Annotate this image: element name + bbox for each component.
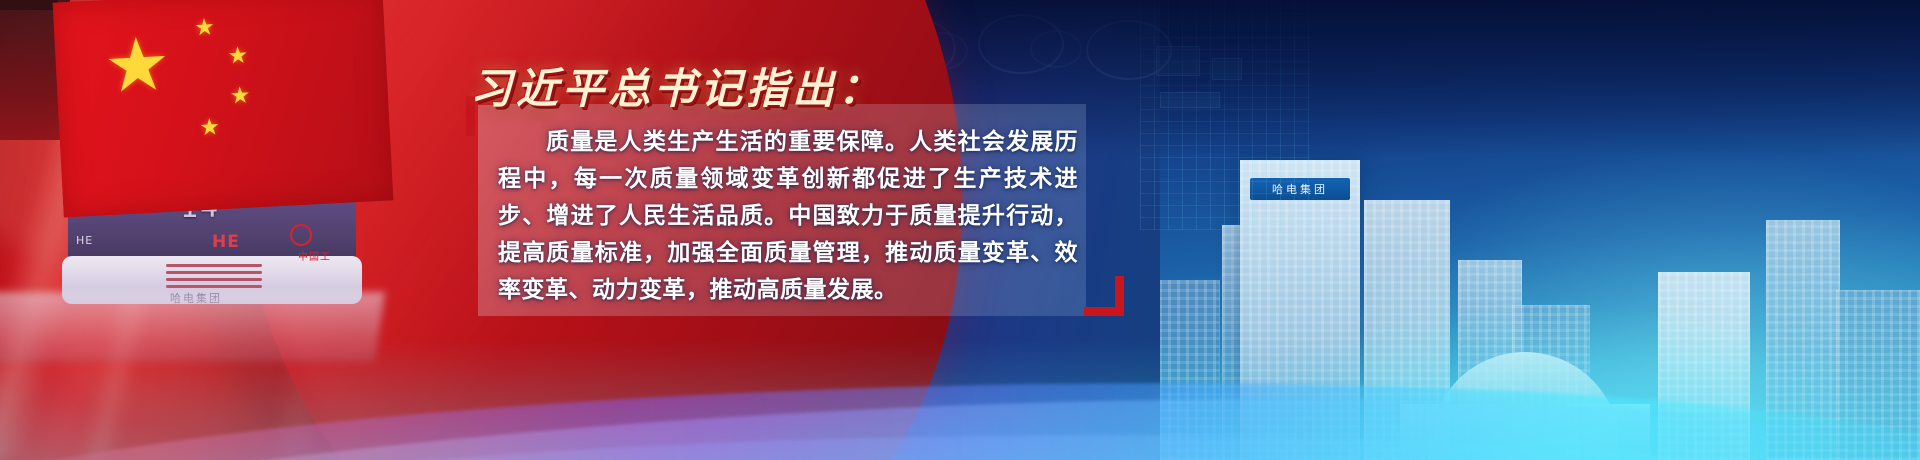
flag-star-small: ★ [227, 45, 249, 69]
machine-hall-beam [0, 0, 58, 10]
bottom-glow [0, 340, 1920, 460]
quote-body-text: 质量是人类生产生活的重要保障。人类社会发展历程中，每一次质量领域变革创新都促进了… [498, 124, 1078, 309]
flag-star-large: ★ [102, 27, 172, 104]
page-title: 习近平总书记指出： [470, 55, 884, 116]
flag-star-small: ★ [194, 16, 216, 40]
hero-banner: 哈电集团 14 [0, 0, 1920, 460]
flag-star-small: ★ [229, 85, 251, 109]
flag-star-small: ★ [199, 116, 221, 140]
chinese-flag: ★ ★ ★ ★ ★ [53, 0, 394, 217]
bracket-bottom-right [1084, 276, 1124, 316]
